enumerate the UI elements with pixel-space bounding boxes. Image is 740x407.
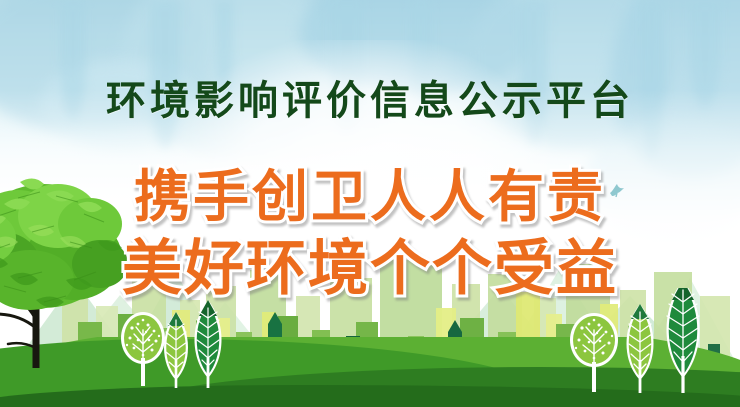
leaf-tree-dark xyxy=(195,300,222,388)
slogan-line-2: 美好环境个个受益 xyxy=(0,220,740,307)
environmental-banner: 环境影响评价信息公示平台 携手创卫人人有责 美好环境个个受益 xyxy=(0,0,740,407)
platform-title: 环境影响评价信息公示平台 xyxy=(0,68,740,126)
leaf-tree-light xyxy=(164,312,188,388)
round-speckled-tree xyxy=(570,313,618,392)
leaf-tree-light xyxy=(627,304,654,393)
